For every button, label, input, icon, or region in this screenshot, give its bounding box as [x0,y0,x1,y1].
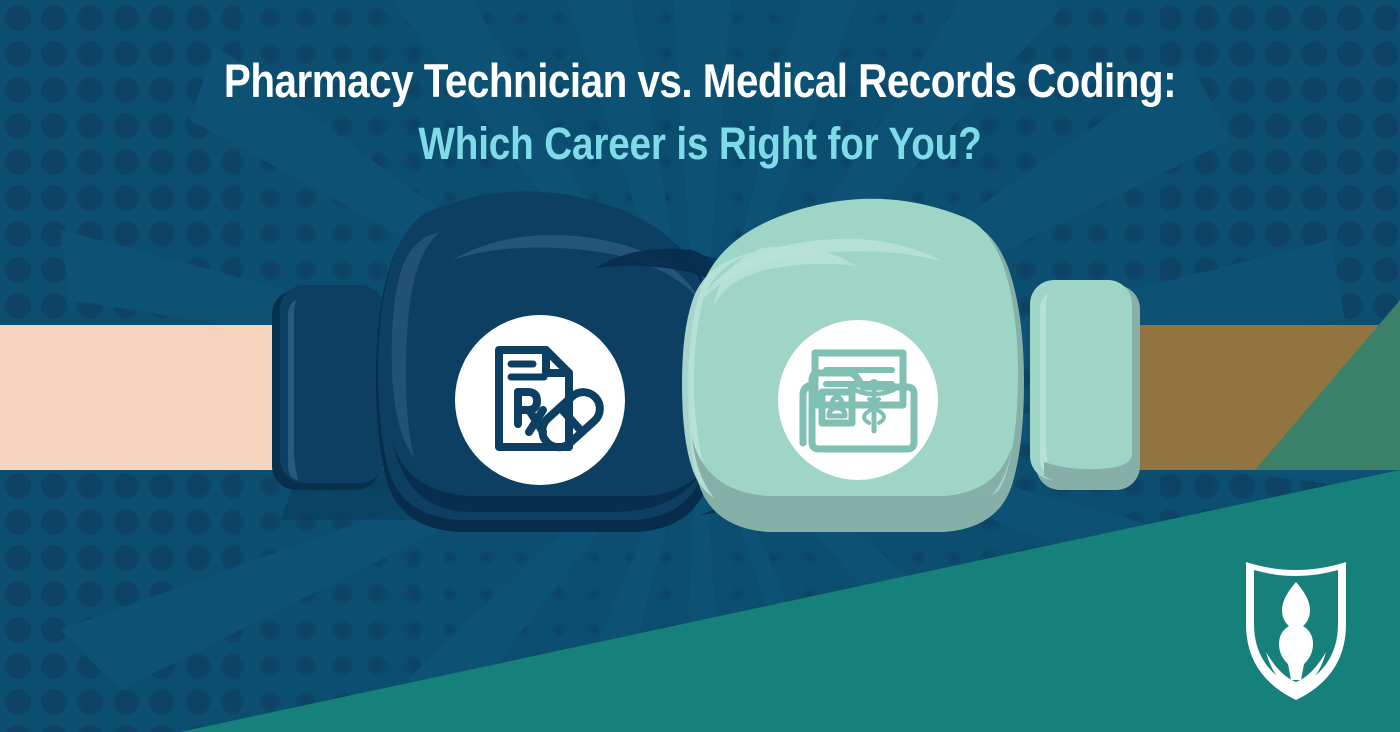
logo-layer [0,0,1400,732]
rasmussen-university-shield-logo[interactable] [1246,562,1346,700]
infographic-banner: Pharmacy Technician vs. Medical Records … [0,0,1400,732]
